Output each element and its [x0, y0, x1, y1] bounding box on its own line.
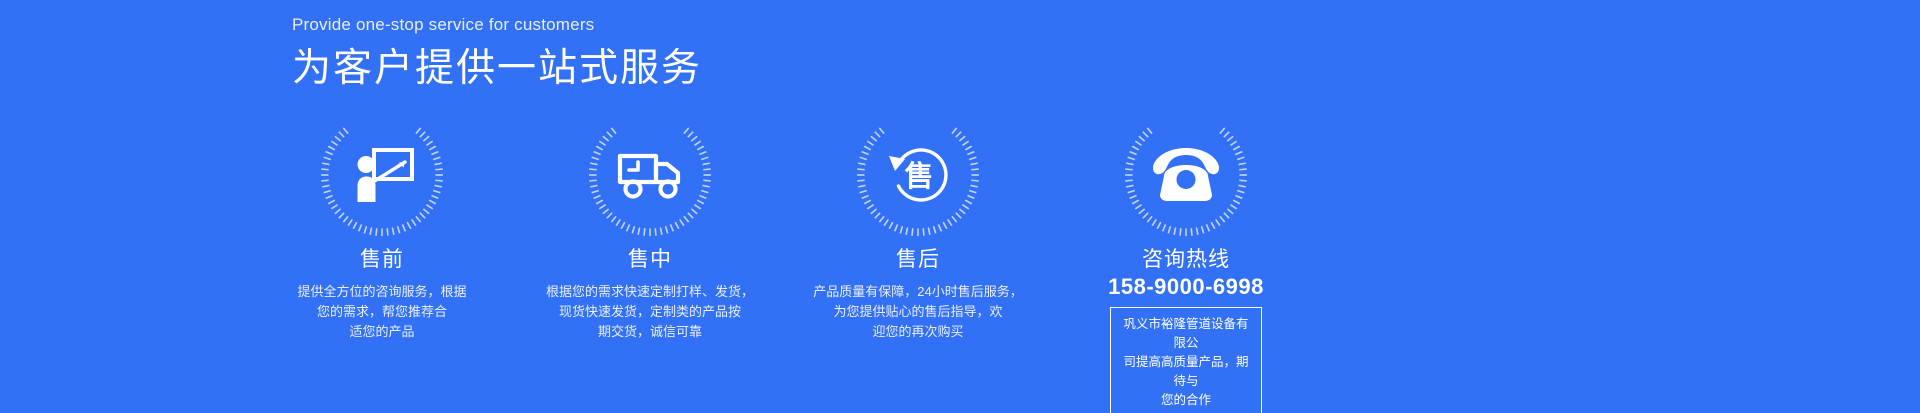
svg-text:售: 售 [904, 159, 933, 193]
column-title: 售后 [896, 247, 940, 272]
desc-line: 现货快速发货，定制类的产品按 [535, 302, 765, 322]
column-title: 售中 [628, 247, 672, 272]
dial-hotline [1123, 112, 1249, 238]
after-sales-refresh-icon: 售 [883, 140, 953, 210]
column-description: 根据您的需求快速定制打样、发货， 现货快速发货，定制类的产品按 期交货，诚信可靠 [535, 282, 765, 342]
note-line: 巩义市裕隆管道设备有限公 [1121, 315, 1251, 353]
dial-aftersale: 售 [855, 112, 981, 238]
desc-line: 迎您的再次购买 [803, 322, 1033, 342]
delivery-truck-clock-icon [615, 140, 685, 210]
desc-line: 产品质量有保障，24小时售后服务， [803, 282, 1033, 302]
note-line: 司提高高质量产品，期待与 [1121, 353, 1251, 391]
desc-line: 您的需求，帮您推荐合 [267, 302, 497, 322]
desc-line: 期交货，诚信可靠 [535, 322, 765, 342]
promo-banner: Provide one-stop service for customers 为… [0, 0, 1920, 413]
service-column-hotline: 咨询热线 158-9000-6998 巩义市裕隆管道设备有限公 司提高高质量产品… [1052, 112, 1320, 413]
hotline-number[interactable]: 158-9000-6998 [1108, 273, 1264, 301]
service-column-presale: 售前 提供全方位的咨询服务，根据 您的需求，帮您推荐合 适您的产品 [248, 112, 516, 413]
presenter-whiteboard-icon [347, 140, 417, 210]
dial-presale [319, 112, 445, 238]
desc-line: 为您提供贴心的售后指导，欢 [803, 302, 1033, 322]
desc-line: 提供全方位的咨询服务，根据 [267, 282, 497, 302]
dial-insale [587, 112, 713, 238]
column-title: 售前 [360, 247, 404, 272]
heading-block: Provide one-stop service for customers 为… [292, 16, 702, 92]
note-line: 您的合作 [1121, 391, 1251, 410]
column-description: 产品质量有保障，24小时售后服务， 为您提供贴心的售后指导，欢 迎您的再次购买 [803, 282, 1033, 342]
column-title: 咨询热线 [1142, 247, 1230, 272]
service-column-insale: 售中 根据您的需求快速定制打样、发货， 现货快速发货，定制类的产品按 期交货，诚… [516, 112, 784, 413]
desc-line: 适您的产品 [267, 322, 497, 342]
page-title: 为客户提供一站式服务 [292, 47, 702, 92]
column-description: 提供全方位的咨询服务，根据 您的需求，帮您推荐合 适您的产品 [267, 282, 497, 342]
desc-line: 根据您的需求快速定制打样、发货， [535, 282, 765, 302]
company-note-box: 巩义市裕隆管道设备有限公 司提高高质量产品，期待与 您的合作 [1110, 307, 1262, 413]
service-column-aftersale: 售 售后 产品质量有保障，24小时售后服务， 为您提供贴心的售后指导，欢 迎您的… [784, 112, 1052, 413]
telephone-icon [1151, 140, 1221, 210]
service-columns: 售前 提供全方位的咨询服务，根据 您的需求，帮您推荐合 适您的产品 [248, 112, 1672, 413]
banner-eyebrow: Provide one-stop service for customers [292, 16, 702, 35]
